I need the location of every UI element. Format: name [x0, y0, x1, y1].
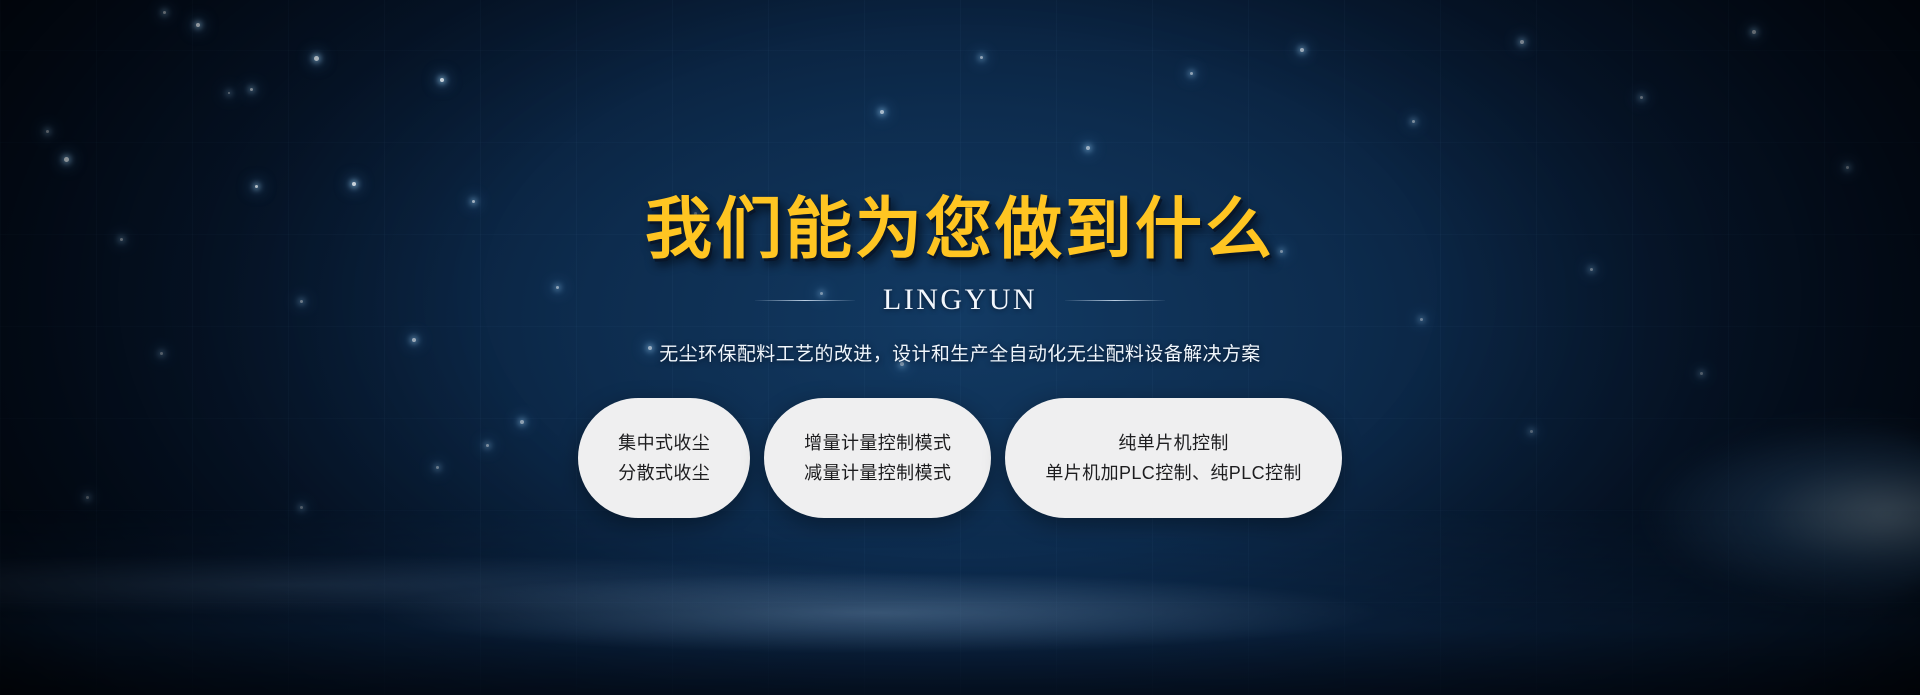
feature-card-line: 集中式收尘: [618, 433, 710, 454]
feature-card[interactable]: 集中式收尘 分散式收尘: [578, 398, 750, 518]
banner-content: 我们能为您做到什么 LINGYUN 无尘环保配料工艺的改进，设计和生产全自动化无…: [0, 0, 1920, 695]
feature-card-list: 集中式收尘 分散式收尘 增量计量控制模式 减量计量控制模式 纯单片机控制 单片机…: [578, 398, 1342, 518]
hero-banner: 我们能为您做到什么 LINGYUN 无尘环保配料工艺的改进，设计和生产全自动化无…: [0, 0, 1920, 695]
feature-card-line: 纯单片机控制: [1118, 433, 1228, 454]
feature-card[interactable]: 纯单片机控制 单片机加PLC控制、纯PLC控制: [1005, 398, 1341, 518]
brand-divider-row: LINGYUN: [755, 283, 1165, 317]
brand-name: LINGYUN: [883, 283, 1037, 317]
divider-line-left: [755, 300, 855, 301]
feature-card-line: 单片机加PLC控制、纯PLC控制: [1045, 463, 1301, 484]
page-subtitle: 无尘环保配料工艺的改进，设计和生产全自动化无尘配料设备解决方案: [659, 339, 1260, 366]
page-title: 我们能为您做到什么: [645, 196, 1275, 263]
feature-card-line: 分散式收尘: [618, 463, 710, 484]
divider-line-right: [1065, 300, 1165, 301]
feature-card-line: 增量计量控制模式: [804, 433, 951, 454]
feature-card-line: 减量计量控制模式: [804, 463, 951, 484]
feature-card[interactable]: 增量计量控制模式 减量计量控制模式: [764, 398, 991, 518]
